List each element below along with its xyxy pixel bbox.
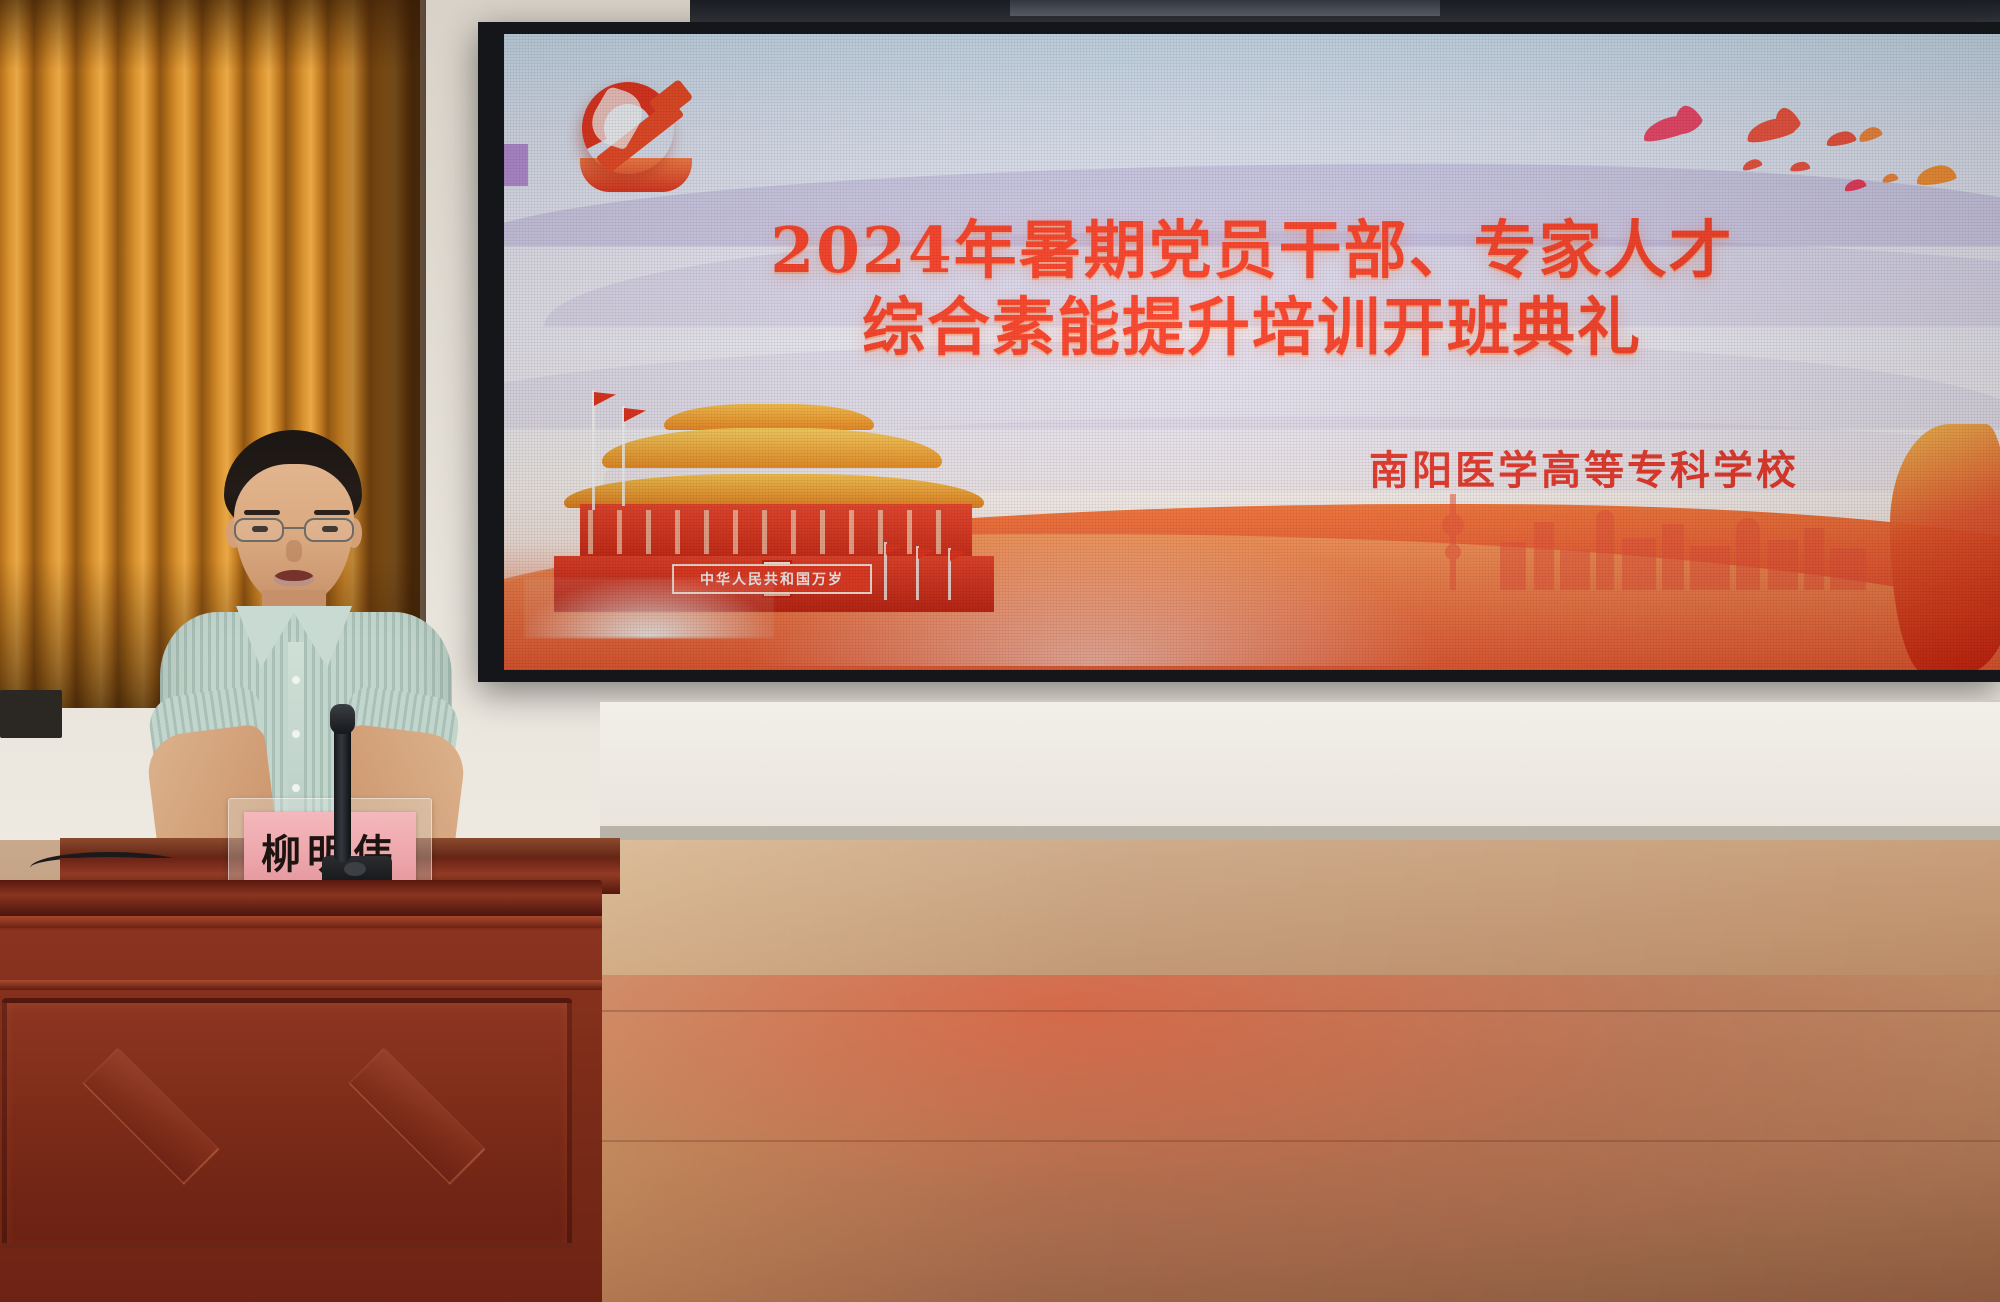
flagpole [592,390,595,510]
bird-icon [1857,125,1884,144]
podium-inset-panel [2,998,572,1248]
mouth [274,570,314,586]
bird-icon [1843,177,1867,192]
tiananmen-gate-illustration: 中华人民共和国万岁 [544,382,1014,632]
skyline-building [1804,528,1824,590]
floor-red-reflection [560,975,2000,1302]
shirt-button [292,730,300,738]
fountain-spray [524,578,774,638]
skyline-building [1622,538,1656,590]
skyline-building [1690,546,1730,590]
podium-top-edge [0,880,602,918]
skyline-building [1596,510,1614,590]
glasses-bridge [284,527,306,529]
skyline-building [1534,522,1554,590]
shirt-button [292,676,300,684]
skyline-building [1768,540,1798,590]
lens-left [234,518,284,542]
ceiling-rail [1010,0,1440,16]
slide-title-line2: 综合素能提升培训开班典礼 [504,289,2000,366]
bird-icon [1790,161,1811,172]
slide-title-line1: 2024年暑期党员干部、专家人才 [504,212,2000,289]
gate-lower-roof [564,474,984,508]
podium-diamond-right [348,1047,486,1185]
screen-corner-chip [504,144,528,186]
gate-main-roof [602,428,942,468]
eyebrow-right [314,510,350,515]
lens-right [304,518,354,542]
nose [286,540,302,562]
skyline-building [1560,550,1590,590]
podium-rail [0,980,602,990]
podium-diamond-left [82,1047,220,1185]
microphone-stem [334,716,351,862]
floor-equipment-box [0,690,62,738]
tv-tower-icon [1450,494,1456,590]
floor-seam [600,1010,2000,1012]
city-skyline-silhouette [1410,480,1970,590]
flag-icon [594,392,616,406]
bird-icon [1741,157,1763,171]
microphone-head [330,704,355,734]
bird-icon [1915,163,1957,186]
led-screen: 2024年暑期党员干部、专家人才 综合素能提升培训开班典礼 南阳医学高等专科学校… [504,34,2000,670]
podium-lip [0,916,602,928]
eyebrow-left [244,510,280,515]
skyline-building [1736,518,1760,590]
skyline-building [1662,524,1684,590]
floor-seam [600,1140,2000,1142]
bird-icon [1881,172,1898,183]
skyline-building [1500,542,1526,590]
flag-icon [624,408,646,422]
bird-icon [1825,129,1857,147]
gate-columns [588,510,964,554]
red-ribbon-decoration [1890,424,2000,670]
ccp-emblem-icon [574,72,702,200]
lower-wall-panel [600,700,2000,830]
slide-title: 2024年暑期党员干部、专家人才 综合素能提升培训开班典礼 [504,212,2000,366]
shirt-button [292,784,300,792]
photo-scene: 2024年暑期党员干部、专家人才 综合素能提升培训开班典礼 南阳医学高等专科学校… [0,0,2000,1302]
microphone-knob [344,862,366,876]
gate-upper-roof [664,404,874,430]
skyline-building [1830,548,1866,590]
